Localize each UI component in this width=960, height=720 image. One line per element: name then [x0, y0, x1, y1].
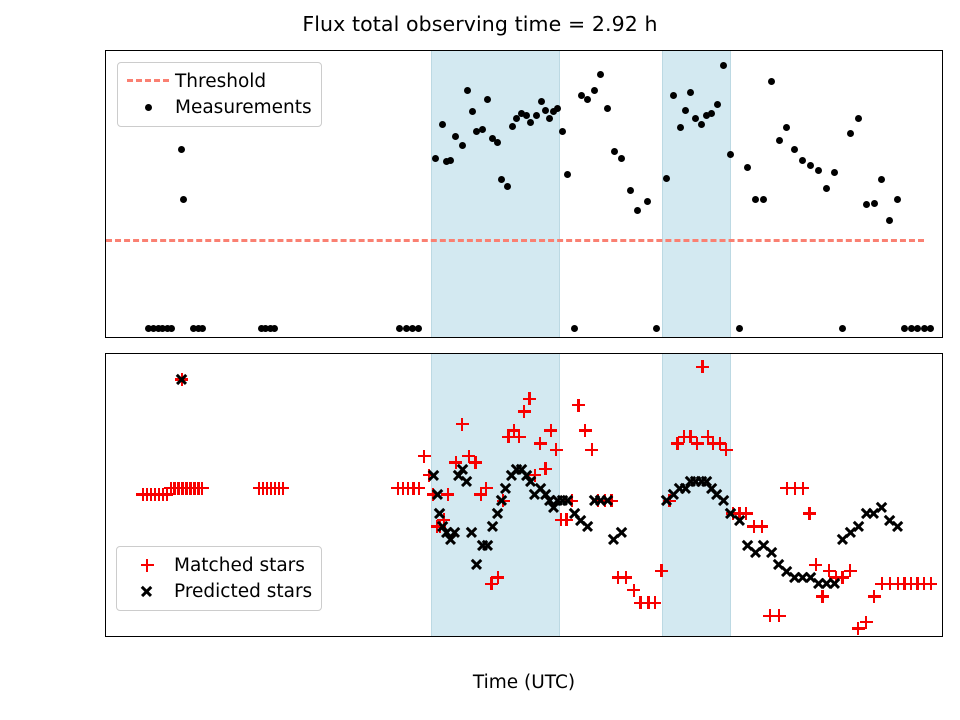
y-tick-mark	[105, 437, 106, 438]
measurement-point	[791, 146, 798, 153]
measurement-point	[542, 107, 549, 114]
measurement-point	[736, 325, 743, 332]
threshold-line	[106, 239, 924, 242]
legend-label-matched-stars: Matched stars	[170, 555, 305, 576]
measurement-point	[178, 146, 185, 153]
measurement-point	[464, 87, 471, 94]
measurement-point	[855, 115, 862, 122]
measurement-point	[479, 126, 486, 133]
shaded-time-span-1	[431, 51, 560, 337]
measurement-point	[571, 325, 578, 332]
top-panel-legend: Threshold Measurements	[117, 62, 322, 127]
x-tick-mark	[706, 337, 707, 338]
x-tick-mark	[574, 337, 575, 338]
measurement-point	[484, 96, 491, 103]
x-tick-mark	[311, 337, 312, 338]
plus-marker-icon	[124, 554, 170, 576]
figure-title: Flux total observing time = 2.92 h	[0, 12, 960, 36]
x-axis-label: Time (UTC)	[105, 672, 943, 693]
y-tick-mark	[105, 239, 106, 240]
measurement-point	[538, 98, 545, 105]
legend-label-measurements: Measurements	[171, 97, 312, 118]
legend-item-threshold: Threshold	[125, 68, 312, 94]
measurement-point	[663, 175, 670, 182]
x-tick-mark	[179, 337, 180, 338]
x-tick-mark	[574, 636, 575, 637]
x-tick-mark	[443, 337, 444, 338]
measurement-point	[677, 124, 684, 131]
measurement-point	[768, 78, 775, 85]
measurement-point	[559, 128, 566, 135]
y-tick-mark	[105, 565, 106, 566]
legend-item-predicted-stars: Predicted stars	[124, 578, 312, 604]
measurement-point	[752, 196, 759, 203]
measurement-point	[469, 108, 476, 115]
measurement-point	[760, 196, 767, 203]
measurement-point	[776, 137, 783, 144]
measurement-point	[554, 105, 561, 112]
measurement-point	[634, 207, 641, 214]
measurement-dot-icon	[125, 96, 171, 118]
measurement-point	[927, 325, 934, 332]
measurement-point	[627, 187, 634, 194]
y-tick-mark	[105, 373, 106, 374]
measurement-point	[807, 162, 814, 169]
x-tick-mark	[838, 337, 839, 338]
x-tick-mark	[443, 636, 444, 637]
cross-marker-icon	[124, 580, 170, 602]
measurement-point	[168, 325, 175, 332]
legend-label-threshold: Threshold	[171, 71, 266, 92]
measurement-point	[831, 169, 838, 176]
measurement-point	[847, 130, 854, 137]
measurement-point	[799, 157, 806, 164]
measurement-point	[611, 148, 618, 155]
legend-item-matched-stars: Matched stars	[124, 552, 312, 578]
measurement-point	[894, 196, 901, 203]
y-tick-mark	[105, 628, 106, 629]
measurement-point	[509, 123, 516, 130]
measurement-point	[720, 62, 727, 69]
measurement-point	[698, 121, 705, 128]
measurement-point	[618, 155, 625, 162]
measurement-point	[533, 112, 540, 119]
measurement-point	[597, 71, 604, 78]
x-tick-mark	[706, 636, 707, 637]
legend-item-measurements: Measurements	[125, 94, 312, 120]
measurement-point	[584, 96, 591, 103]
measurement-point	[815, 167, 822, 174]
measurement-point	[271, 325, 278, 332]
threshold-line-icon	[125, 70, 171, 92]
measurement-point	[783, 124, 790, 131]
x-tick-mark	[838, 636, 839, 637]
measurement-point	[886, 217, 893, 224]
measurement-point	[901, 325, 908, 332]
measurement-point	[591, 87, 598, 94]
measurement-point	[727, 151, 734, 158]
measurement-point	[439, 121, 446, 128]
measurement-point	[687, 89, 694, 96]
y-tick-mark	[105, 60, 106, 61]
measurement-point	[180, 196, 187, 203]
measurement-point	[447, 157, 454, 164]
x-tick-mark	[311, 636, 312, 637]
x-tick-mark	[179, 636, 180, 637]
measurement-point	[878, 176, 885, 183]
measurement-point	[564, 171, 571, 178]
measurement-point	[823, 185, 830, 192]
bottom-panel-legend: Matched stars Predicted stars	[116, 546, 322, 611]
y-tick-mark	[105, 501, 106, 502]
measurement-point	[199, 325, 206, 332]
legend-label-predicted-stars: Predicted stars	[170, 581, 312, 602]
measurement-point	[653, 325, 660, 332]
y-tick-mark	[105, 328, 106, 329]
measurement-point	[863, 201, 870, 208]
measurement-point	[714, 101, 721, 108]
matplotlib-figure: Flux total observing time = 2.92 h 0.00.…	[0, 0, 960, 720]
measurement-point	[744, 164, 751, 171]
measurement-point	[604, 105, 611, 112]
measurement-point	[682, 107, 689, 114]
measurement-point	[871, 200, 878, 207]
measurement-point	[839, 325, 846, 332]
measurement-point	[415, 325, 422, 332]
bottom-panel-axes: 203040506018:0020:0022:0000:0002:0004:00…	[105, 353, 943, 637]
measurement-point	[644, 198, 651, 205]
top-panel-axes: 0.00.51.01.5 Matched/Predicted stars Thr…	[105, 50, 943, 338]
y-tick-mark	[105, 149, 106, 150]
